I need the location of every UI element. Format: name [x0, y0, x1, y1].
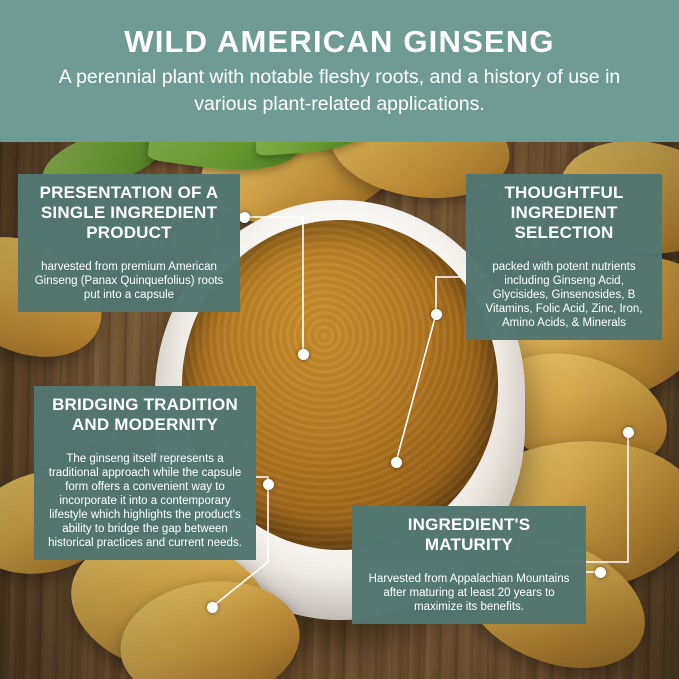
callout-title: BRIDGING TRADITION AND MODERNITY	[46, 395, 244, 435]
infographic-root: WILD AMERICAN GINSENG A perennial plant …	[0, 0, 679, 679]
callout-body-band: The ginseng itself represents a traditio…	[34, 444, 256, 560]
callout-body-band: packed with potent nutrients including G…	[466, 252, 662, 340]
callout-body-band: Harvested from Appalachian Mountains aft…	[352, 564, 586, 624]
connector-dot	[207, 602, 218, 613]
header-banner: WILD AMERICAN GINSENG A perennial plant …	[0, 0, 679, 142]
callout-body: Harvested from Appalachian Mountains aft…	[364, 572, 574, 614]
callout-title-band: INGREDIENT'S MATURITY	[352, 506, 586, 564]
connector-dot	[391, 457, 402, 468]
callout-title-band: THOUGHTFUL INGREDIENT SELECTION	[466, 174, 662, 252]
callout-title: PRESENTATION OF A SINGLE INGREDIENT PROD…	[30, 183, 228, 243]
callout-maturity: INGREDIENT'S MATURITY Harvested from App…	[352, 506, 586, 624]
connector-dot	[263, 479, 274, 490]
connector-dot	[298, 349, 309, 360]
product-photo: PRESENTATION OF A SINGLE INGREDIENT PROD…	[0, 142, 679, 679]
callout-body-band: harvested from premium American Ginseng …	[18, 252, 240, 312]
callout-title-band: BRIDGING TRADITION AND MODERNITY	[34, 386, 256, 444]
page-subtitle: A perennial plant with notable fleshy ro…	[40, 64, 640, 118]
connector-dot	[595, 567, 606, 578]
callout-title: INGREDIENT'S MATURITY	[364, 515, 574, 555]
callout-title: THOUGHTFUL INGREDIENT SELECTION	[478, 183, 650, 243]
callout-body: harvested from premium American Ginseng …	[30, 260, 228, 302]
connector-dot	[623, 427, 634, 438]
page-title: WILD AMERICAN GINSENG	[24, 24, 655, 60]
connector-dot	[431, 309, 442, 320]
callout-body: The ginseng itself represents a traditio…	[46, 452, 244, 550]
callout-selection: THOUGHTFUL INGREDIENT SELECTION packed w…	[466, 174, 662, 340]
callout-presentation: PRESENTATION OF A SINGLE INGREDIENT PROD…	[18, 174, 240, 312]
callout-title-band: PRESENTATION OF A SINGLE INGREDIENT PROD…	[18, 174, 240, 252]
callout-bridging: BRIDGING TRADITION AND MODERNITY The gin…	[34, 386, 256, 560]
connector-dot	[239, 212, 250, 223]
callout-body: packed with potent nutrients including G…	[478, 260, 650, 330]
